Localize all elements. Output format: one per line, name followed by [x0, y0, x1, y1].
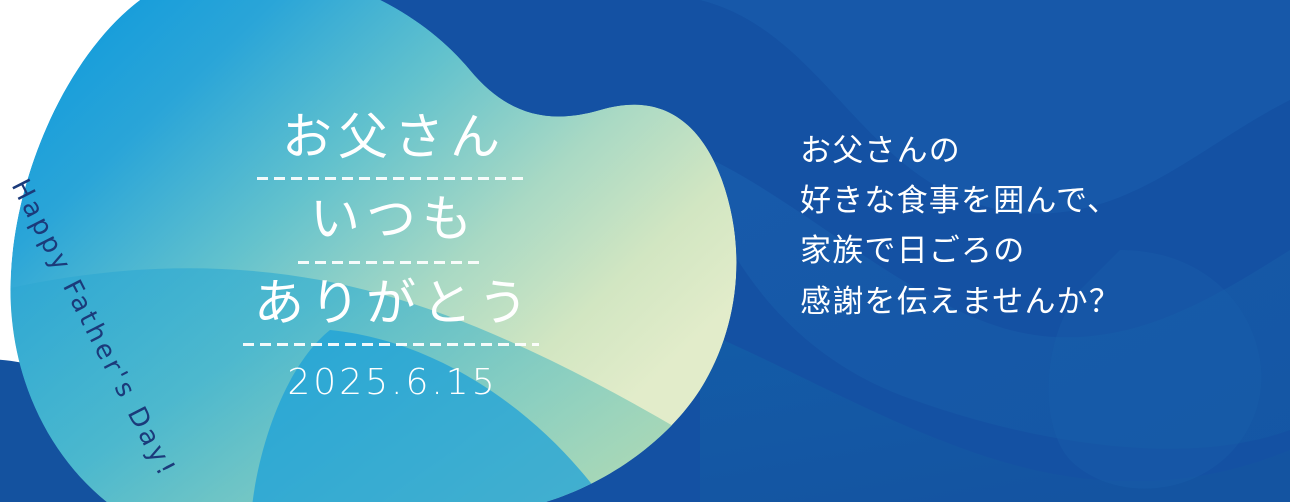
message-line-4: 感謝を伝えませんか？: [800, 277, 1121, 327]
headline-divider-3: [243, 343, 539, 346]
headline-divider-2: [298, 261, 484, 264]
headline-divider-1: [257, 177, 525, 180]
message-line-1: お父さんの: [800, 126, 1121, 176]
message-block: お父さんの 好きな食事を囲んで、 家族で日ごろの 感謝を伝えませんか？: [800, 126, 1121, 327]
headline-line-3: ありがとう: [226, 278, 556, 329]
headline-line-1: お父さん: [226, 112, 556, 163]
message-line-3: 家族で日ごろの: [800, 226, 1121, 276]
fathers-day-banner: Happy Father's Day! お父さん いつも ありがとう 2025.…: [0, 0, 1290, 502]
event-date: 2025.6.15: [226, 362, 556, 403]
headline-line-2: いつも: [226, 194, 556, 245]
headline-block: お父さん いつも ありがとう 2025.6.15: [226, 112, 556, 403]
message-line-2: 好きな食事を囲んで、: [800, 176, 1121, 226]
